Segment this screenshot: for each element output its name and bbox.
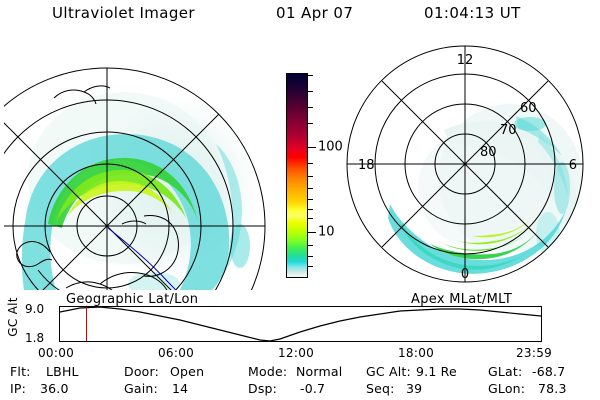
colorbar-tick <box>308 209 313 210</box>
status-flt-label: Flt: <box>10 364 31 379</box>
status-gcalt-label: GC Alt: <box>366 364 411 379</box>
status-mode-label: Mode: <box>248 364 287 379</box>
colorbar-tick <box>308 266 313 267</box>
geographic-polar-plot[interactable] <box>4 38 266 290</box>
status-dsp-value: -0.7 <box>300 381 325 396</box>
colorbar-tick <box>308 218 313 219</box>
strip-xtick-4: 23:59 <box>516 346 552 360</box>
apex-plot-svg: 12 18 6 0 60 70 80 <box>334 38 596 290</box>
observation-date: 01 Apr 07 <box>276 4 353 22</box>
status-seq-value: 39 <box>406 381 422 396</box>
status-glat-label: GLat: <box>488 364 522 379</box>
colorbar-tick <box>308 163 313 164</box>
colorbar-label-10: 10 <box>318 226 335 239</box>
status-gain-value: 14 <box>172 381 188 396</box>
mlat-label-80: 80 <box>480 145 497 160</box>
mlat-label-70: 70 <box>500 123 517 138</box>
colorbar-tick <box>308 245 313 246</box>
header: Ultraviolet Imager 01 Apr 07 01:04:13 UT <box>0 4 600 28</box>
status-ip-label: IP: <box>10 381 26 396</box>
strip-chart-ylabel: GC Alt <box>6 295 20 339</box>
status-door-value: Open <box>170 364 204 379</box>
uvi-summary-plot: Ultraviolet Imager 01 Apr 07 01:04:13 UT <box>0 0 600 400</box>
apex-polar-plot[interactable]: 12 18 6 0 60 70 80 <box>334 38 596 290</box>
instrument-title: Ultraviolet Imager <box>52 4 195 22</box>
status-glon-value: 78.3 <box>538 381 567 396</box>
status-dsp-label: Dsp: <box>248 381 277 396</box>
status-gcalt-value: 9.1 Re <box>416 364 457 379</box>
status-glat-value: -68.7 <box>532 364 565 379</box>
mlat-label-60: 60 <box>520 101 537 116</box>
geographic-plot-svg <box>4 38 266 290</box>
mlt-label-6: 6 <box>569 158 577 173</box>
current-time-marker <box>86 307 87 341</box>
status-ip-value: 36.0 <box>40 381 69 396</box>
strip-ytick-max: 9.0 <box>25 303 44 315</box>
colorbar-gradient <box>287 74 307 277</box>
status-flt-value: LBHL <box>46 364 79 379</box>
colorbar-tick-major <box>308 232 316 233</box>
colorbar-swatch[interactable] <box>286 73 308 278</box>
mlt-label-0: 0 <box>461 267 469 282</box>
status-door-label: Door: <box>124 364 159 379</box>
colorbar-tick <box>308 188 313 189</box>
colorbar-tick <box>308 176 313 177</box>
strip-xtick-3: 18:00 <box>398 346 434 360</box>
orbit-altitude-curve <box>60 307 541 341</box>
colorbar-tick <box>308 199 313 200</box>
strip-xtick-0: 00:00 <box>38 346 74 360</box>
strip-xtick-2: 12:00 <box>278 346 314 360</box>
strip-xtick-1: 06:00 <box>158 346 194 360</box>
colorbar-tick <box>308 107 313 108</box>
mlt-label-12: 12 <box>457 53 474 68</box>
status-mode-value: Normal <box>296 364 342 379</box>
strip-chart-plot-area[interactable] <box>59 306 542 342</box>
colorbar-group: photon cm-2s-1 <box>268 62 330 294</box>
gc-alt-strip-chart[interactable]: GC Alt 9.0 1.8 00:00 06:00 12:00 18:00 2… <box>0 300 600 356</box>
colorbar-tick-major <box>308 147 316 148</box>
apex-aurora-emission <box>388 104 582 274</box>
colorbar-tick <box>308 123 313 124</box>
mlt-label-18: 18 <box>358 158 375 173</box>
colorbar-tick <box>308 75 313 76</box>
apex-mlt-spokes <box>347 46 583 282</box>
status-gain-label: Gain: <box>124 381 158 396</box>
observation-time: 01:04:13 UT <box>424 4 521 22</box>
colorbar-tick <box>308 91 313 92</box>
status-glon-label: GLon: <box>488 381 525 396</box>
status-seq-label: Seq: <box>366 381 395 396</box>
colorbar-tick <box>308 256 313 257</box>
strip-ytick-min: 1.8 <box>25 332 44 344</box>
status-block: Flt: LBHL IP: 36.0 Door: Open Gain: 14 M… <box>0 362 600 400</box>
